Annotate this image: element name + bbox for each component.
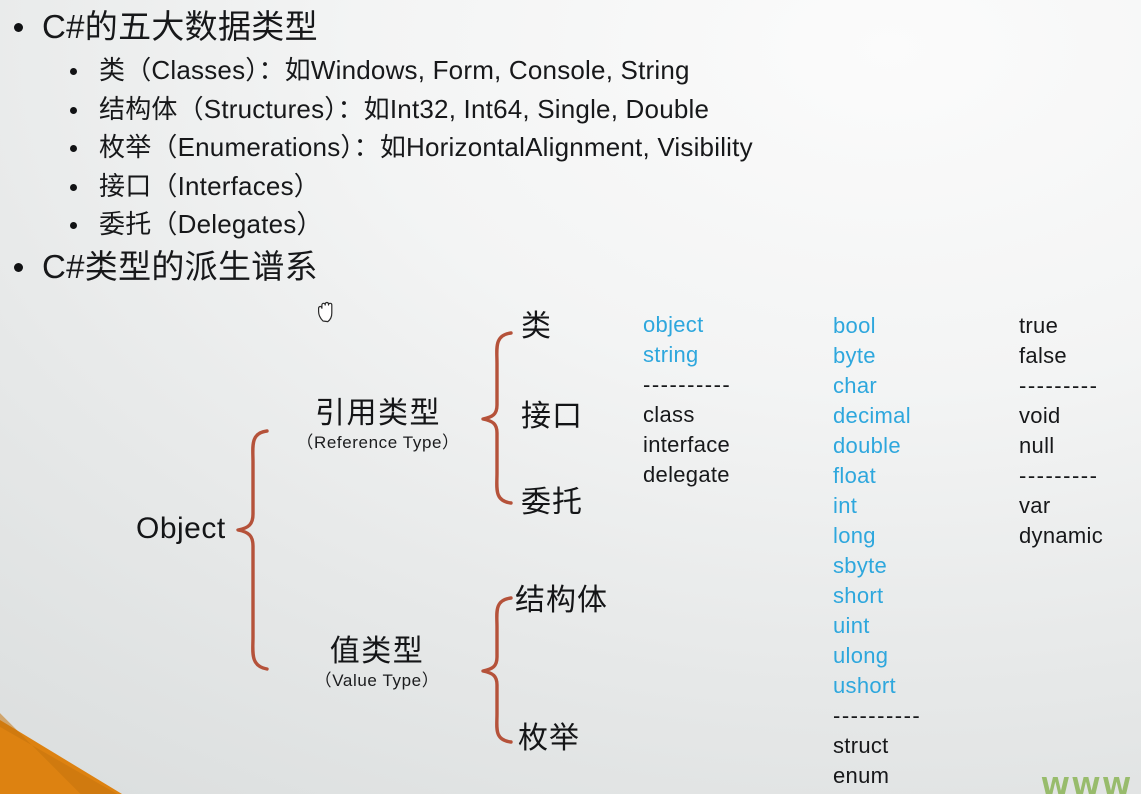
keyword-void: void: [1019, 401, 1103, 431]
keyword-dynamic: dynamic: [1019, 521, 1103, 551]
diagram-node-delegate: 委托: [521, 486, 583, 520]
diagram-node-enum: 枚举: [518, 722, 580, 756]
diagram-node-struct: 结构体: [515, 584, 608, 618]
brace-reference-type: [483, 333, 511, 503]
keyword-bool: bool: [833, 311, 921, 341]
keyword-object: object: [643, 310, 731, 340]
group-label-cn: 引用类型: [283, 396, 473, 432]
watermark-logo: WWW: [1041, 773, 1133, 794]
keyword-uint: uint: [833, 611, 921, 641]
keyword-false: false: [1019, 341, 1103, 371]
keyword-struct: struct: [833, 731, 921, 761]
brace-value-type: [483, 598, 511, 742]
keyword-float: float: [833, 461, 921, 491]
keyword-short: short: [833, 581, 921, 611]
keyword-char: char: [833, 371, 921, 401]
keyword-var: var: [1019, 491, 1103, 521]
brace-root: [238, 431, 267, 669]
type-hierarchy-diagram: Object 引用类型 （Reference Type） 值类型 （Value …: [0, 0, 1141, 794]
keyword-byte: byte: [833, 341, 921, 371]
keyword-enum: enum: [833, 761, 921, 791]
keyword-column-literal: true false --------- void null ---------…: [1019, 311, 1103, 551]
group-label-en: （Value Type）: [288, 670, 466, 692]
keyword-separator: ----------: [833, 701, 921, 731]
keyword-ulong: ulong: [833, 641, 921, 671]
keyword-decimal: decimal: [833, 401, 921, 431]
keyword-interface: interface: [643, 430, 731, 460]
diagram-group-reference-type: 引用类型 （Reference Type）: [283, 396, 473, 454]
keyword-delegate: delegate: [643, 460, 731, 490]
keyword-separator: ----------: [643, 370, 731, 400]
brace-connectors: [0, 0, 1141, 794]
diagram-group-value-type: 值类型 （Value Type）: [288, 634, 466, 692]
diagram-node-object: Object: [136, 512, 226, 546]
group-label-cn: 值类型: [288, 634, 466, 670]
diagram-node-interface: 接口: [521, 400, 583, 434]
keyword-separator: ---------: [1019, 461, 1103, 491]
keyword-int: int: [833, 491, 921, 521]
keyword-double: double: [833, 431, 921, 461]
keyword-sbyte: sbyte: [833, 551, 921, 581]
keyword-ushort: ushort: [833, 671, 921, 701]
presentation-slide: C#的五大数据类型 类（Classes）：如Windows, Form, Con…: [0, 0, 1141, 794]
keyword-null: null: [1019, 431, 1103, 461]
keyword-long: long: [833, 521, 921, 551]
keyword-column-reference: object string ---------- class interface…: [643, 310, 731, 490]
keyword-true: true: [1019, 311, 1103, 341]
keyword-string: string: [643, 340, 731, 370]
keyword-separator: ---------: [1019, 371, 1103, 401]
keyword-class: class: [643, 400, 731, 430]
diagram-node-class: 类: [521, 310, 552, 344]
group-label-en: （Reference Type）: [283, 432, 473, 454]
keyword-column-value: bool byte char decimal double float int …: [833, 311, 921, 791]
